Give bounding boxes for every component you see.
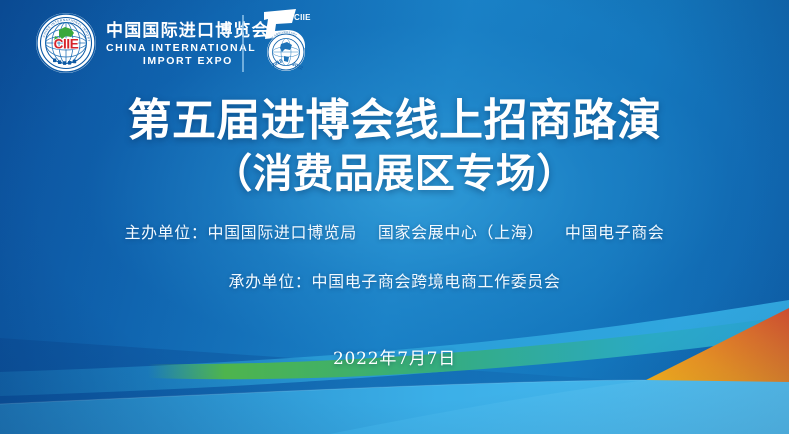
poster-title-line1: 第五届进博会线上招商路演 (0, 95, 789, 147)
coorganizer-item-0: 中国电子商会跨境电商工作委员会 (312, 272, 561, 291)
wordmark-chinese: 中国国际进口博览会 (106, 21, 270, 42)
header-divider (242, 15, 244, 72)
coorganizer-line: 承办单位：中国电子商会跨境电商工作委员会 (0, 270, 789, 294)
ciie-wordmark: 中国国际进口博览会 CHINA INTERNATIONAL IMPORT EXP… (106, 19, 270, 68)
event-date: 2022年7月7日 (0, 344, 789, 369)
poster-header: CHINA INTERNATIONAL IMPORT EXPO CIIE 中国国… (0, 0, 789, 86)
svg-text:2022: 2022 (291, 61, 304, 71)
poster-title-block: 第五届进博会线上招商路演 （消费品展区专场） (0, 95, 789, 198)
ciie-logo-lockup: CHINA INTERNATIONAL IMPORT EXPO CIIE 中国国… (35, 12, 270, 74)
coorganizer-label: 承办单位： (228, 272, 311, 291)
host-label: 主办单位： (124, 223, 207, 242)
host-organizers-line: 主办单位：中国国际进口博览局国家会展中心（上海）中国电子商会 (0, 221, 789, 245)
host-item-0: 中国国际进口博览局 (207, 223, 356, 242)
host-item-2: 中国电子商会 (565, 223, 665, 242)
fifth-anniversary-logo-icon: CIIE 5TH ANNIVERSARY 2018 2022 (256, 6, 314, 80)
host-item-1: 国家会展中心（上海） (378, 223, 544, 242)
svg-text:CIIE: CIIE (54, 37, 79, 52)
svg-text:CIIE: CIIE (294, 13, 311, 22)
poster-canvas: CHINA INTERNATIONAL IMPORT EXPO CIIE 中国国… (0, 0, 789, 434)
wordmark-english-line2: IMPORT EXPO (106, 55, 270, 68)
wordmark-english-line1: CHINA INTERNATIONAL (106, 42, 270, 55)
poster-title-line2: （消费品展区专场） (0, 150, 789, 198)
ciie-circular-emblem-icon: CHINA INTERNATIONAL IMPORT EXPO CIIE (35, 12, 97, 74)
organizers-block: 主办单位：中国国际进口博览局国家会展中心（上海）中国电子商会 承办单位：中国电子… (0, 221, 789, 294)
